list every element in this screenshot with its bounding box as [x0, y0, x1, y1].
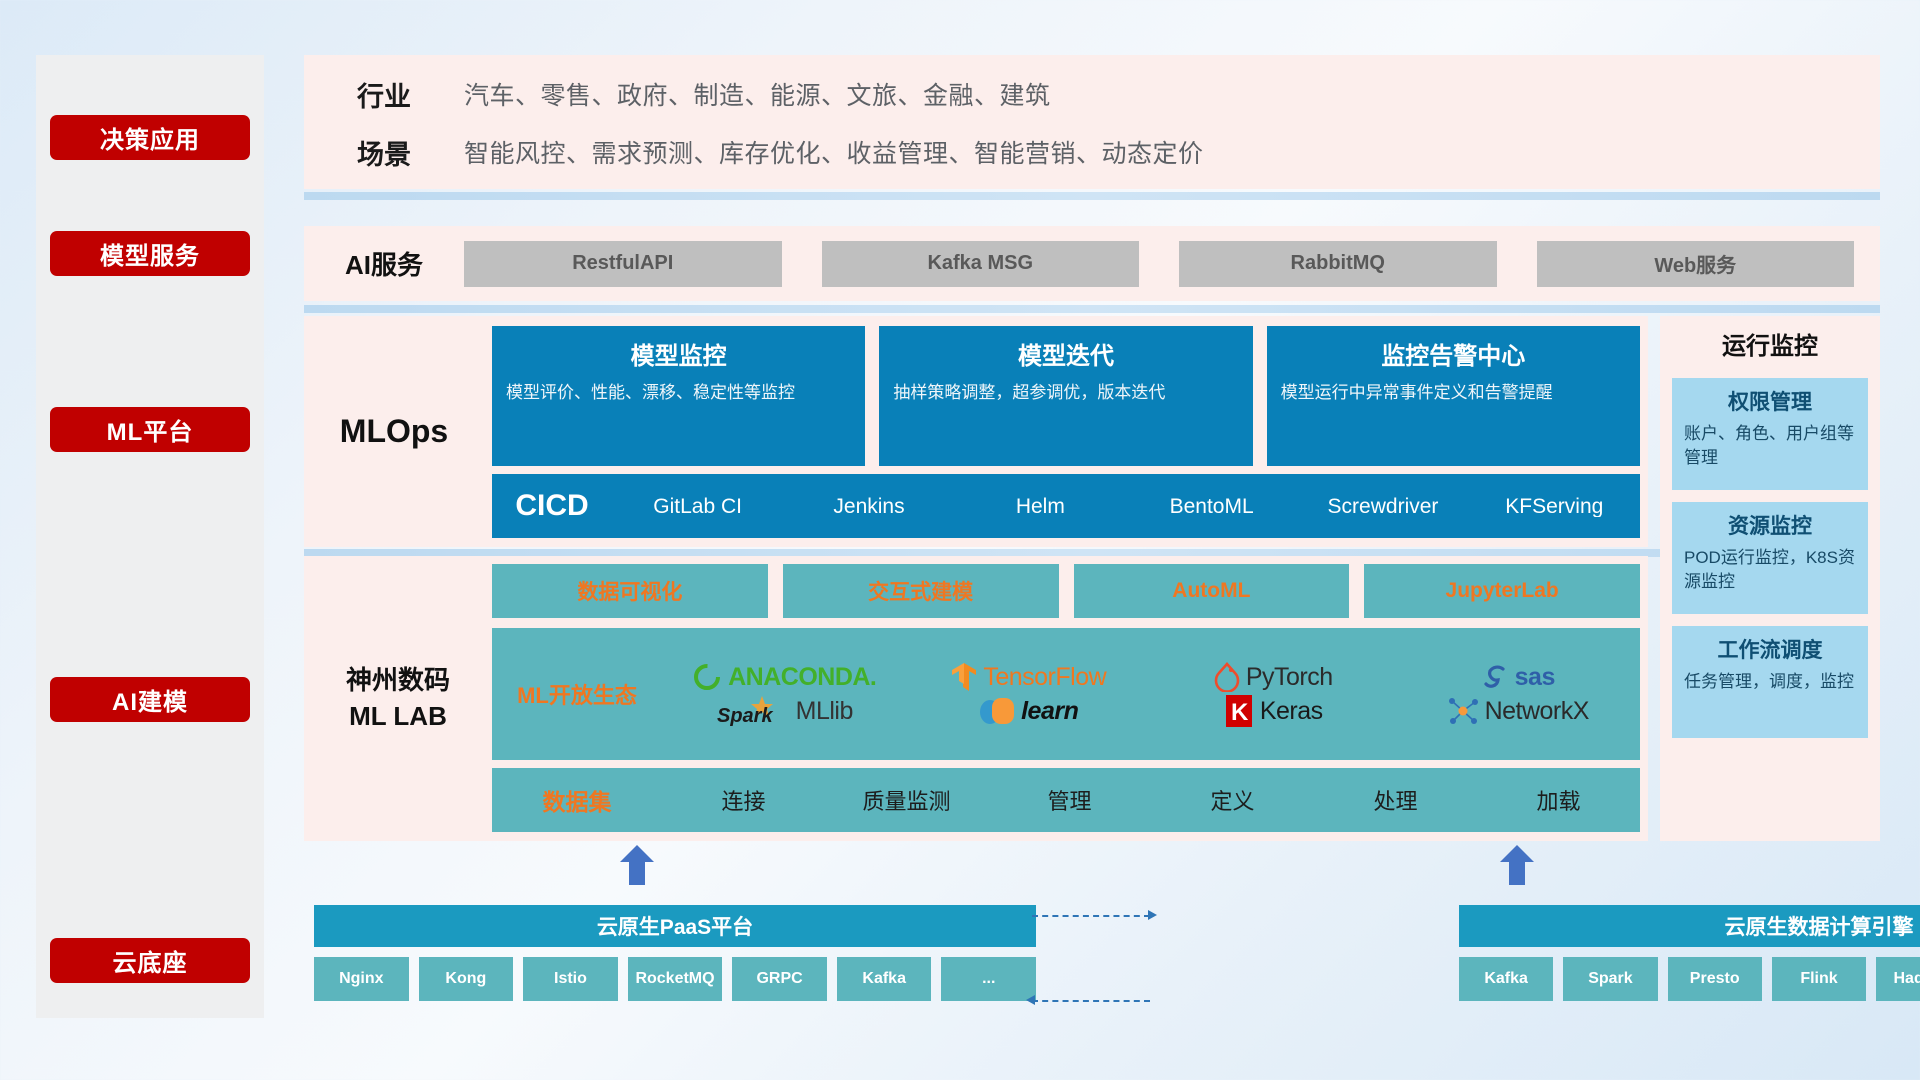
- cicd-item-bentoml[interactable]: BentoML: [1126, 496, 1297, 517]
- lab-tool-row: 数据可视化 交互式建模 AutoML JupyterLab: [492, 564, 1640, 618]
- paas-chip-nginx[interactable]: Nginx: [314, 957, 409, 1001]
- spark-icon: Spark: [716, 694, 790, 728]
- lab-tool-data-visualization[interactable]: 数据可视化: [492, 564, 768, 618]
- card-desc: 账户、角色、用户组等管理: [1684, 422, 1856, 470]
- rail-label: ML平台: [107, 412, 194, 447]
- lab-tool-jupyterlab[interactable]: JupyterLab: [1364, 564, 1640, 618]
- dashed-connector-left: [1032, 1000, 1150, 1002]
- dashed-arrowhead-right: [1148, 910, 1157, 920]
- tensorflow-icon: [951, 662, 977, 692]
- ml-lab-label-line2: ML LAB: [349, 699, 447, 734]
- rail-item-cloud-base[interactable]: 云底座: [50, 938, 250, 983]
- paas-chip-rocketmq[interactable]: RocketMQ: [628, 957, 723, 1001]
- cicd-row: CICD GitLab CI Jenkins Helm BentoML Scre…: [492, 474, 1640, 538]
- lab-tool-interactive-modeling[interactable]: 交互式建模: [783, 564, 1059, 618]
- service-chip-kafka[interactable]: Kafka MSG: [822, 241, 1140, 287]
- dataset-item-process[interactable]: 处理: [1314, 784, 1477, 816]
- card-desc: 抽样策略调整，超参调优，版本迭代: [893, 381, 1238, 406]
- cicd-item-helm[interactable]: Helm: [955, 496, 1126, 517]
- layer-rail: 决策应用 模型服务 ML平台 AI建模 云底座: [36, 55, 264, 1018]
- card-title: 权限管理: [1684, 386, 1856, 416]
- sas-logo: sas: [1481, 663, 1555, 692]
- sas-label: sas: [1515, 663, 1555, 692]
- cicd-item-gitlab-ci[interactable]: GitLab CI: [612, 496, 783, 517]
- cicd-item-screwdriver[interactable]: Screwdriver: [1297, 496, 1468, 517]
- engine-chip-flink[interactable]: Flink: [1772, 957, 1866, 1001]
- cicd-item-kfserving[interactable]: KFServing: [1469, 496, 1640, 517]
- decision-application-panel: 行业 汽车、零售、政府、制造、能源、文旅、金融、建筑 场景 智能风控、需求预测、…: [304, 55, 1880, 189]
- mlops-panel: MLOps 模型监控 模型评价、性能、漂移、稳定性等监控 模型迭代 抽样策略调整…: [304, 316, 1648, 547]
- tensorflow-logo: TensorFlow: [951, 662, 1106, 692]
- runtime-monitoring-panel: 运行监控 权限管理 账户、角色、用户组等管理 资源监控 POD运行监控，K8S资…: [1660, 316, 1880, 841]
- pytorch-icon: [1214, 662, 1240, 692]
- dataset-row: 数据集 连接 质量监测 管理 定义 处理 加载: [492, 768, 1640, 832]
- ai-service-panel: AI服务 RestfulAPI Kafka MSG RabbitMQ Web服务: [304, 226, 1880, 301]
- ai-service-label: AI服务: [304, 245, 464, 282]
- dataset-label: 数据集: [492, 783, 662, 817]
- architecture-diagram: 决策应用 模型服务 ML平台 AI建模 云底座 行业 汽车、零售、政府、制造、能…: [0, 0, 1920, 1080]
- dataset-item-quality-monitor[interactable]: 质量监测: [825, 784, 988, 816]
- scenario-row: 场景 智能风控、需求预测、库存优化、收益管理、智能营销、动态定价: [304, 127, 1880, 177]
- rail-label: 模型服务: [100, 236, 200, 271]
- anaconda-label: ANACONDA.: [728, 663, 876, 692]
- monitoring-card-workflow[interactable]: 工作流调度 任务管理，调度，监控: [1672, 626, 1868, 738]
- rail-item-ai-modeling[interactable]: AI建模: [50, 677, 250, 722]
- keras-logo: K Keras: [1224, 694, 1323, 728]
- card-title: 资源监控: [1684, 510, 1856, 540]
- rail-item-model-service[interactable]: 模型服务: [50, 231, 250, 276]
- card-desc: 任务管理，调度，监控: [1684, 670, 1856, 694]
- card-title: 监控告警中心: [1281, 336, 1626, 371]
- dashed-arrowhead-left: [1026, 995, 1035, 1005]
- band-separator: [304, 305, 1880, 313]
- anaconda-logo: ANACONDA.: [692, 662, 876, 692]
- band-separator: [304, 192, 1880, 200]
- pytorch-logo: PyTorch: [1214, 662, 1333, 692]
- dataset-item-define[interactable]: 定义: [1151, 784, 1314, 816]
- cicd-title: CICD: [492, 489, 612, 523]
- dashed-connector-right: [1032, 915, 1150, 917]
- mlops-card-row: 模型监控 模型评价、性能、漂移、稳定性等监控 模型迭代 抽样策略调整，超参调优，…: [492, 326, 1640, 466]
- networkx-label: NetworkX: [1485, 697, 1589, 726]
- ml-lab-panel: 神州数码 ML LAB 数据可视化 交互式建模 AutoML JupyterLa…: [304, 556, 1648, 841]
- data-engine-chip-row: Kafka Spark Presto Flink Hadoop Storm ..…: [1459, 957, 1920, 1001]
- card-desc: 模型评价、性能、漂移、稳定性等监控: [506, 381, 851, 406]
- paas-chip-kong[interactable]: Kong: [419, 957, 514, 1001]
- keras-icon: K: [1224, 694, 1254, 728]
- service-chip-web[interactable]: Web服务: [1537, 241, 1855, 287]
- scenario-key: 场景: [304, 133, 464, 172]
- networkx-icon: [1447, 695, 1479, 727]
- scikit-learn-label: learn: [1021, 697, 1078, 726]
- dataset-item-connect[interactable]: 连接: [662, 784, 825, 816]
- mlops-card-model-monitor[interactable]: 模型监控 模型评价、性能、漂移、稳定性等监控: [492, 326, 865, 466]
- cloud-native-paas-bar[interactable]: 云原生PaaS平台: [314, 905, 1036, 947]
- card-desc: 模型运行中异常事件定义和告警提醒: [1281, 381, 1626, 406]
- card-desc: POD运行监控，K8S资源监控: [1684, 546, 1856, 594]
- card-title: 工作流调度: [1684, 634, 1856, 664]
- monitoring-card-resource[interactable]: 资源监控 POD运行监控，K8S资源监控: [1672, 502, 1868, 614]
- spark-mllib-logo: Spark MLlib: [716, 694, 853, 728]
- dataset-item-manage[interactable]: 管理: [988, 784, 1151, 816]
- industry-value: 汽车、零售、政府、制造、能源、文旅、金融、建筑: [464, 76, 1051, 112]
- paas-chip-grpc[interactable]: GRPC: [732, 957, 827, 1001]
- dataset-item-load[interactable]: 加载: [1477, 784, 1640, 816]
- paas-chip-row: Nginx Kong Istio RocketMQ GRPC Kafka ...: [314, 957, 1036, 1001]
- industry-key: 行业: [304, 75, 464, 114]
- industry-row: 行业 汽车、零售、政府、制造、能源、文旅、金融、建筑: [304, 69, 1880, 119]
- ecosystem-logo-grid: ANACONDA. TensorFlow PyTorch: [662, 660, 1640, 728]
- engine-chip-spark[interactable]: Spark: [1563, 957, 1657, 1001]
- ml-lab-label: 神州数码 ML LAB: [304, 556, 492, 841]
- rail-item-decision-app[interactable]: 决策应用: [50, 115, 250, 160]
- card-title: 模型迭代: [893, 336, 1238, 371]
- monitoring-title: 运行监控: [1660, 326, 1880, 361]
- sas-icon: [1481, 663, 1509, 691]
- ai-service-chip-row: RestfulAPI Kafka MSG RabbitMQ Web服务: [464, 241, 1880, 287]
- lab-tool-automl[interactable]: AutoML: [1074, 564, 1350, 618]
- paas-chip-istio[interactable]: Istio: [523, 957, 618, 1001]
- rail-label: AI建模: [112, 682, 188, 717]
- tensorflow-label: TensorFlow: [983, 663, 1106, 692]
- rail-item-ml-platform[interactable]: ML平台: [50, 407, 250, 452]
- anaconda-icon: [692, 662, 722, 692]
- ecosystem-label: ML开放生态: [492, 678, 662, 710]
- svg-text:K: K: [1231, 699, 1249, 726]
- svg-text:Spark: Spark: [717, 705, 773, 727]
- mlops-label: MLOps: [304, 316, 484, 547]
- service-chip-rabbitmq[interactable]: RabbitMQ: [1179, 241, 1497, 287]
- paas-chip-more[interactable]: ...: [941, 957, 1036, 1001]
- service-chip-restful[interactable]: RestfulAPI: [464, 241, 782, 287]
- scikit-icon: [979, 695, 1015, 727]
- card-title: 模型监控: [506, 336, 851, 371]
- mllib-label: MLlib: [796, 697, 853, 726]
- cicd-item-jenkins[interactable]: Jenkins: [783, 496, 954, 517]
- ml-open-ecosystem-row: ML开放生态 ANACONDA. TensorFlow: [492, 628, 1640, 760]
- mlops-card-alert-center[interactable]: 监控告警中心 模型运行中异常事件定义和告警提醒: [1267, 326, 1640, 466]
- networkx-logo: NetworkX: [1447, 695, 1589, 727]
- rail-label: 决策应用: [100, 120, 200, 155]
- pytorch-label: PyTorch: [1246, 663, 1333, 692]
- rail-label: 云底座: [113, 943, 188, 978]
- monitoring-card-permission[interactable]: 权限管理 账户、角色、用户组等管理: [1672, 378, 1868, 490]
- arrow-up-data-engine: [1500, 845, 1534, 885]
- engine-chip-presto[interactable]: Presto: [1668, 957, 1762, 1001]
- keras-label: Keras: [1260, 697, 1323, 726]
- ml-lab-label-line1: 神州数码: [346, 663, 450, 698]
- paas-chip-kafka[interactable]: Kafka: [837, 957, 932, 1001]
- arrow-up-paas: [620, 845, 654, 885]
- mlops-card-model-iteration[interactable]: 模型迭代 抽样策略调整，超参调优，版本迭代: [879, 326, 1252, 466]
- scikit-learn-logo: learn: [979, 695, 1078, 727]
- cloud-native-data-engine-bar[interactable]: 云原生数据计算引擎: [1459, 905, 1920, 947]
- engine-chip-hadoop[interactable]: Hadoop: [1876, 957, 1920, 1001]
- engine-chip-kafka[interactable]: Kafka: [1459, 957, 1553, 1001]
- scenario-value: 智能风控、需求预测、库存优化、收益管理、智能营销、动态定价: [464, 134, 1204, 170]
